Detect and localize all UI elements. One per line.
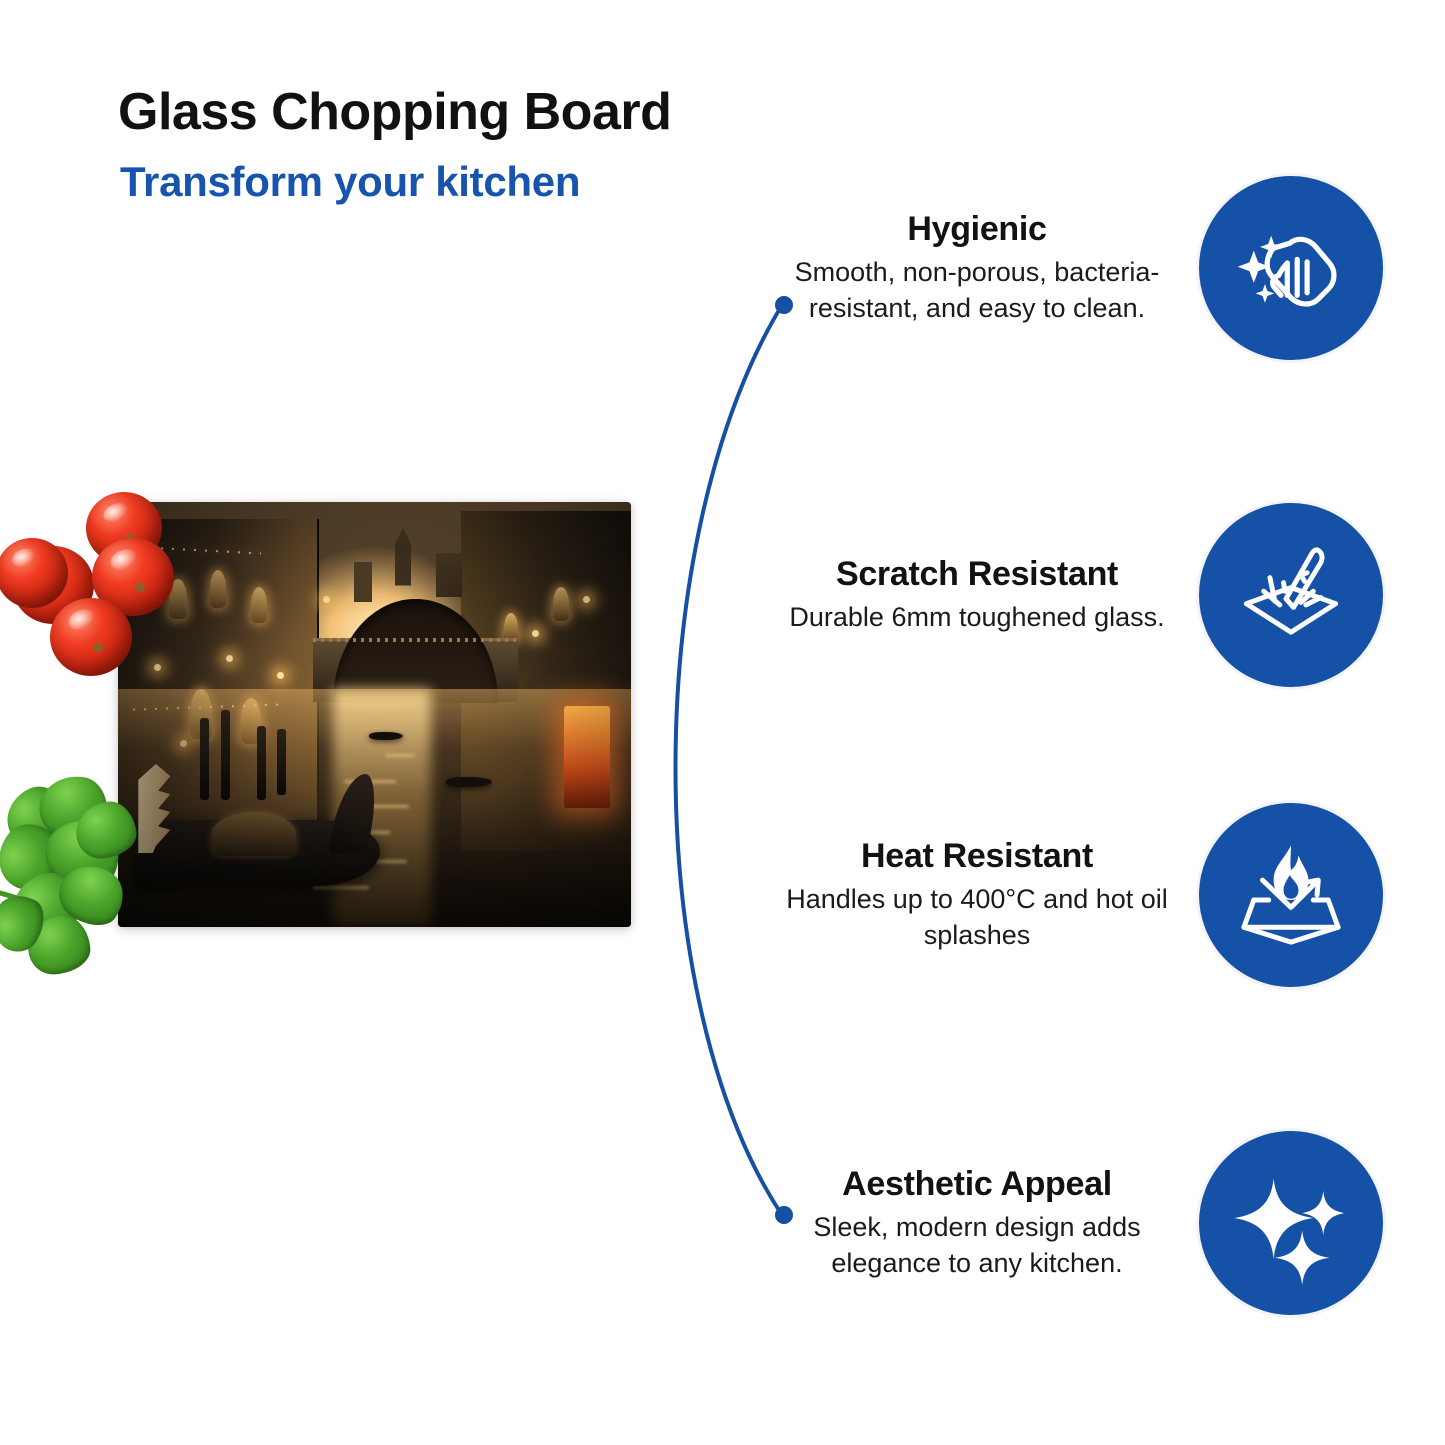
feature-description: Handles up to 400°C and hot oil splashes: [786, 882, 1168, 952]
page-title: Glass Chopping Board: [118, 82, 671, 142]
feature-description: Smooth, non-porous, bacteria-resistant, …: [786, 255, 1168, 325]
infographic-canvas: Glass Chopping Board Transform your kitc…: [0, 0, 1445, 1445]
feature-text-block: Heat Resistant Handles up to 400°C and h…: [786, 837, 1176, 952]
feature-row-scratch-resistant: Scratch Resistant Durable 6mm toughened …: [786, 500, 1386, 690]
tomato-garnish: [50, 598, 132, 676]
feature-title: Hygienic: [786, 210, 1168, 249]
feature-title: Aesthetic Appeal: [786, 1165, 1168, 1204]
connector-path: [676, 305, 783, 1215]
feature-text-block: Hygienic Smooth, non-porous, bacteria-re…: [786, 210, 1176, 325]
feature-title: Heat Resistant: [786, 837, 1168, 876]
feature-text-block: Scratch Resistant Durable 6mm toughened …: [786, 555, 1176, 635]
feature-description: Durable 6mm toughened glass.: [786, 600, 1168, 635]
connector-curve: [600, 240, 860, 1280]
feature-text-block: Aesthetic Appeal Sleek, modern design ad…: [786, 1165, 1176, 1280]
page-subtitle: Transform your kitchen: [120, 158, 580, 206]
hand-wipe-sparkle-icon: [1196, 173, 1386, 363]
feature-row-hygienic: Hygienic Smooth, non-porous, bacteria-re…: [786, 173, 1386, 363]
tomato-calyx: [135, 583, 146, 592]
flame-deflect-surface-icon: [1196, 800, 1386, 990]
feature-row-heat-resistant: Heat Resistant Handles up to 400°C and h…: [786, 800, 1386, 990]
feature-row-aesthetic-appeal: Aesthetic Appeal Sleek, modern design ad…: [786, 1128, 1386, 1318]
sparkles-icon: [1196, 1128, 1386, 1318]
tomato-calyx: [93, 643, 104, 652]
parsley-garnish: [0, 770, 204, 990]
feature-description: Sleek, modern design adds elegance to an…: [786, 1210, 1168, 1280]
feature-title: Scratch Resistant: [786, 555, 1168, 594]
knife-impact-surface-icon: [1196, 500, 1386, 690]
